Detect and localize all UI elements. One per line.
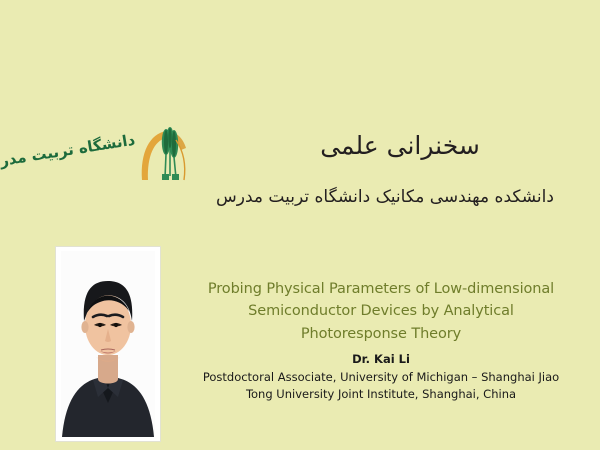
- clipped-bottom-text: ​: [176, 404, 586, 408]
- wheat-stalk-emblem-icon: [136, 118, 194, 188]
- lecture-title-line-2: Semiconductor Devices by Analytical: [176, 300, 586, 322]
- lecture-title-line-1: Probing Physical Parameters of Low-dimen…: [176, 278, 586, 300]
- speaker-affiliation: Postdoctoral Associate, University of Mi…: [176, 369, 586, 405]
- seminar-announcement-slide: دانشگاه تربیت مدرس: [0, 0, 600, 450]
- university-calligraphy-text: دانشگاه تربیت مدرس: [17, 133, 142, 203]
- speaker-name: Dr. Kai Li: [176, 351, 586, 368]
- affiliation-line-1: Postdoctoral Associate, University of Mi…: [176, 369, 586, 387]
- university-logo: دانشگاه تربیت مدرس: [24, 118, 194, 190]
- english-text-column: Probing Physical Parameters of Low-dimen…: [176, 278, 586, 408]
- persian-heading: سخنرانی علمی: [200, 130, 600, 161]
- lecture-title-line-3: Photoresponse Theory: [176, 323, 586, 345]
- persian-subheading: دانشکده مهندسی مکانیک دانشگاه تربیت مدرس: [170, 186, 600, 208]
- lecture-title: Probing Physical Parameters of Low-dimen…: [176, 278, 586, 345]
- affiliation-line-2: Tong University Joint Institute, Shangha…: [176, 386, 586, 404]
- speaker-portrait-frame: [55, 246, 161, 442]
- speaker-portrait-photo: [61, 251, 155, 437]
